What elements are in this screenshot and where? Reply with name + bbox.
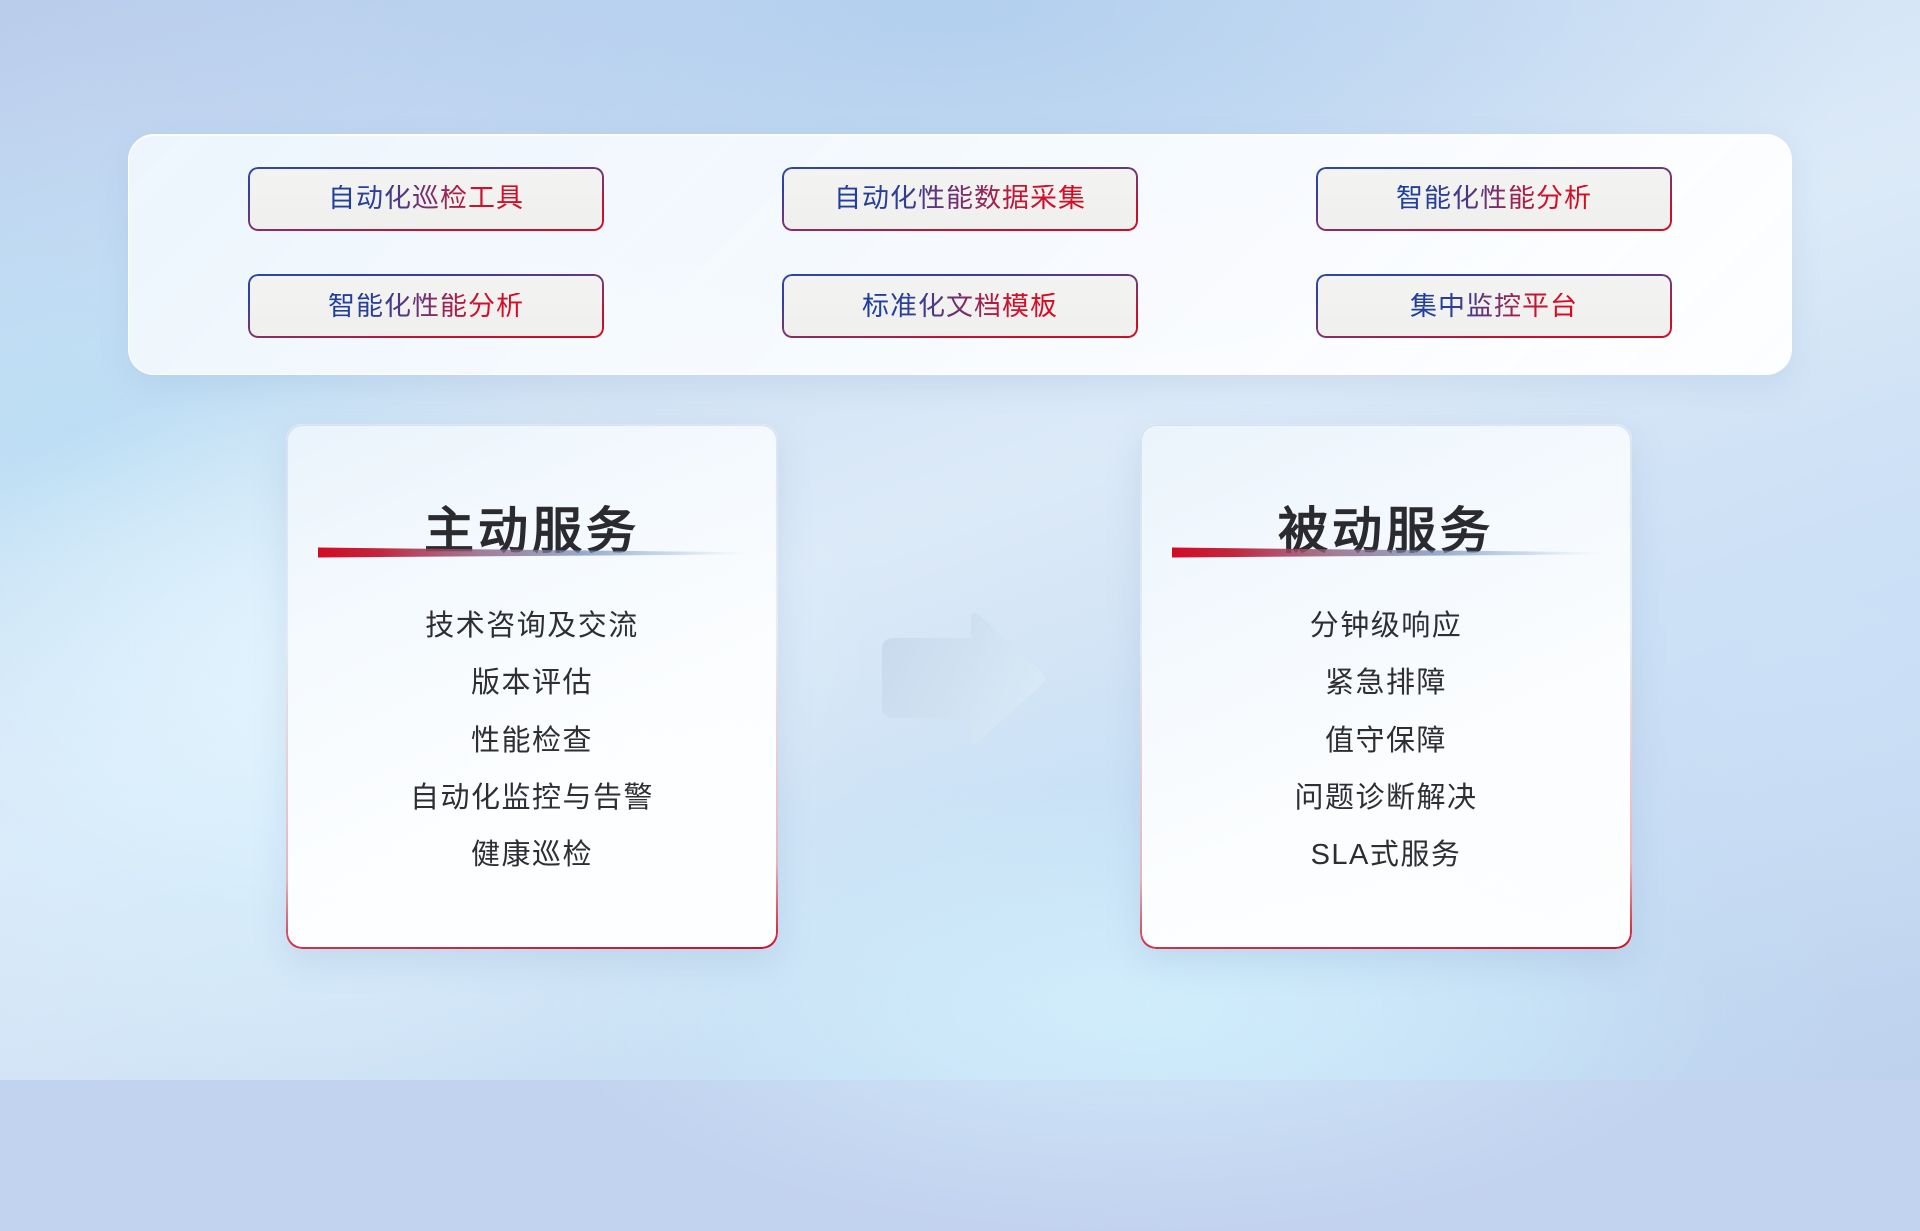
list-item: 紧急排障 — [1140, 665, 1632, 701]
passive-service-divider — [1172, 546, 1600, 560]
passive-service-list: 分钟级响应 紧急排障 值守保障 问题诊断解决 SLA式服务 — [1140, 588, 1632, 923]
list-item: 值守保障 — [1140, 723, 1632, 759]
capability-chip-label: 智能化性能分析 — [328, 293, 524, 320]
capability-chip[interactable]: 自动化性能数据采集 — [782, 167, 1138, 231]
passive-service-card: 被动服务 分钟级响应 紧急排障 值守保障 问题诊断解决 SLA式服务 — [1140, 424, 1632, 949]
list-item: 版本评估 — [286, 665, 778, 701]
capability-chip[interactable]: 标准化文档模板 — [782, 274, 1138, 338]
active-service-divider — [318, 546, 746, 560]
list-item: SLA式服务 — [1140, 837, 1632, 873]
capability-chip[interactable]: 智能化性能分析 — [1316, 167, 1672, 231]
capability-panel: 自动化巡检工具 自动化性能数据采集 智能化性能分析 智能化性能分析 标准化文档模… — [128, 134, 1792, 375]
capability-chip-label: 智能化性能分析 — [1396, 185, 1592, 212]
list-item: 性能检查 — [286, 723, 778, 759]
capability-chip-label: 标准化文档模板 — [862, 293, 1058, 320]
capability-chip[interactable]: 智能化性能分析 — [248, 274, 604, 338]
right-arrow-icon — [868, 610, 1048, 746]
list-item: 分钟级响应 — [1140, 608, 1632, 644]
capability-chip-label: 自动化巡检工具 — [328, 185, 524, 212]
list-item: 问题诊断解决 — [1140, 780, 1632, 816]
capability-chip[interactable]: 集中监控平台 — [1316, 274, 1672, 338]
capability-chip-grid: 自动化巡检工具 自动化性能数据采集 智能化性能分析 智能化性能分析 标准化文档模… — [129, 135, 1791, 374]
active-service-list: 技术咨询及交流 版本评估 性能检查 自动化监控与告警 健康巡检 — [286, 588, 778, 923]
capability-chip-label: 自动化性能数据采集 — [834, 185, 1086, 212]
list-item: 技术咨询及交流 — [286, 608, 778, 644]
list-item: 自动化监控与告警 — [286, 780, 778, 816]
active-service-card: 主动服务 技术咨询及交流 版本评估 性能检查 自动化监控与告警 健康巡检 — [286, 424, 778, 949]
list-item: 健康巡检 — [286, 837, 778, 873]
capability-chip[interactable]: 自动化巡检工具 — [248, 167, 604, 231]
capability-chip-label: 集中监控平台 — [1410, 293, 1578, 320]
